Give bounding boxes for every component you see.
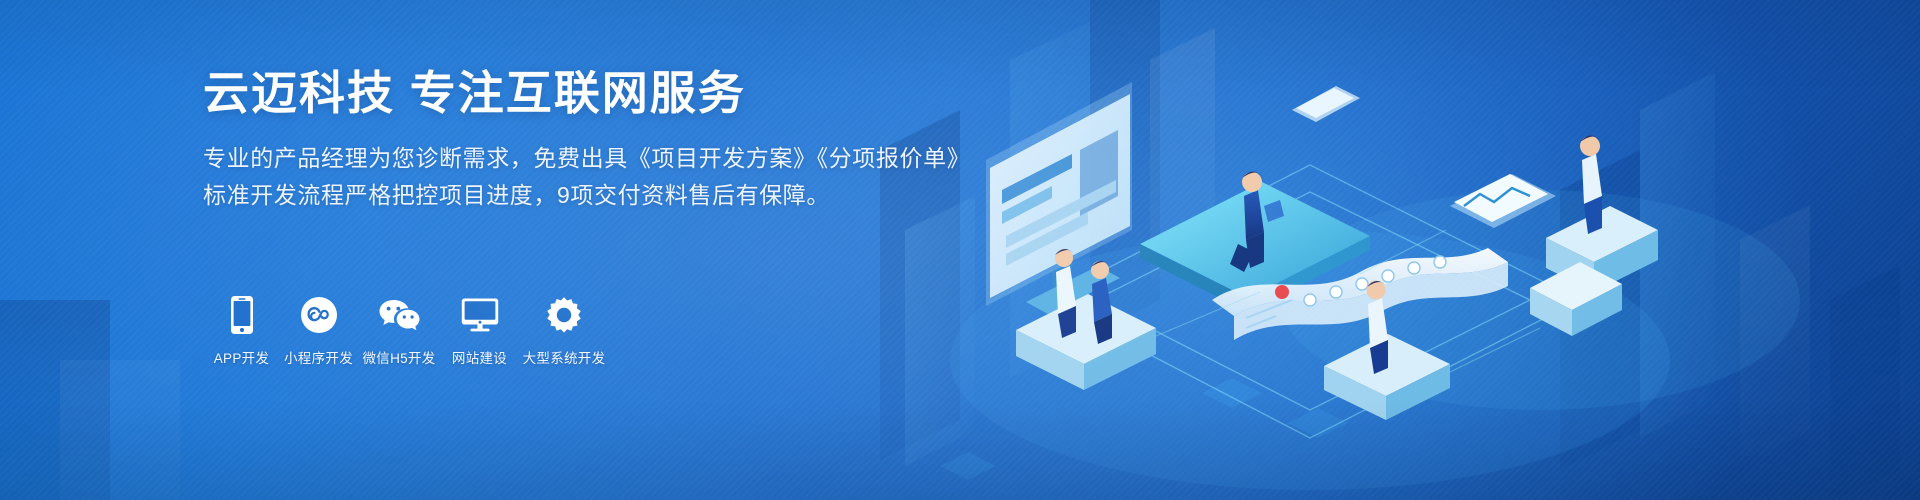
mini-program-icon [300,292,338,338]
wechat-icon [377,292,421,338]
service-item-wechat-h5[interactable]: 微信H5开发 [357,292,441,367]
subtitle-block: 专业的产品经理为您诊断需求，免费出具《项目开发方案》《分项报价单》 标准开发流程… [203,140,923,214]
subtitle-line-2: 标准开发流程严格把控项目进度，9项交付资料售后有保障。 [203,177,923,214]
service-label: APP开发 [214,351,270,367]
service-item-website[interactable]: 网站建设 [441,292,518,367]
service-label: 小程序开发 [284,351,353,367]
page-title: 云迈科技 专注互联网服务 [203,64,923,122]
subtitle-line-1: 专业的产品经理为您诊断需求，免费出具《项目开发方案》《分项报价单》 [203,140,923,177]
mobile-phone-icon [230,292,254,338]
service-label: 网站建设 [452,351,507,367]
hero-banner: 云迈科技 专注互联网服务 专业的产品经理为您诊断需求，免费出具《项目开发方案》《… [0,0,1920,500]
banner-copy: 云迈科技 专注互联网服务 专业的产品经理为您诊断需求，免费出具《项目开发方案》《… [203,64,923,214]
service-item-mini-program[interactable]: 小程序开发 [280,292,357,367]
service-label: 微信H5开发 [362,351,435,367]
service-label: 大型系统开发 [523,351,606,367]
isometric-illustration [840,0,1920,500]
service-item-app[interactable]: APP开发 [203,292,280,367]
service-item-large-system[interactable]: 大型系统开发 [518,292,610,367]
monitor-icon [460,292,500,338]
gear-icon [544,292,584,338]
service-list: APP开发 小程序开发 [203,292,610,367]
